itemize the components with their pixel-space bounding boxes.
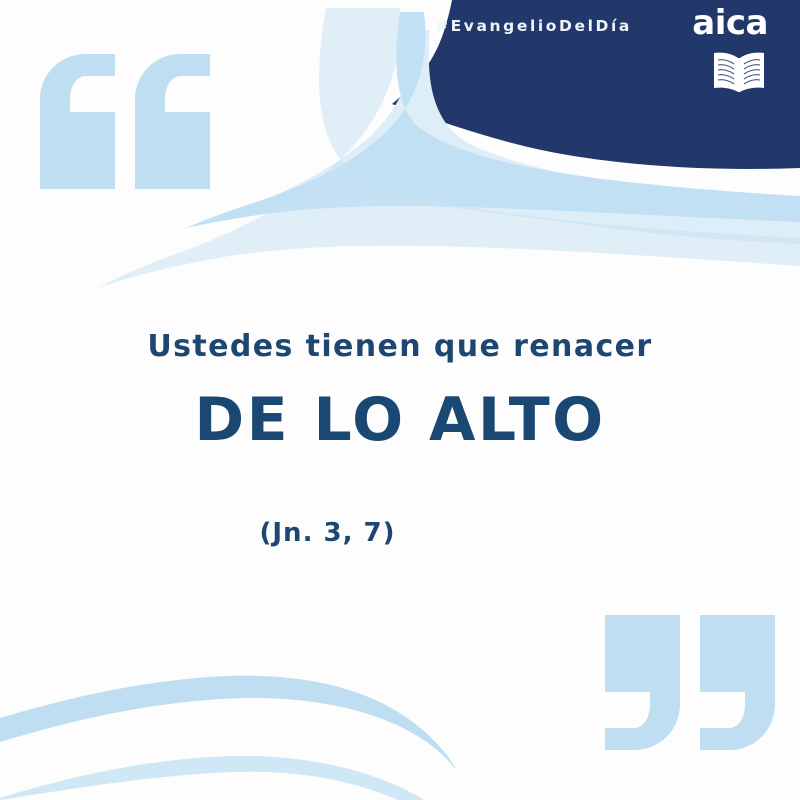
hashtag-label: #EvangelioDelDía [435, 17, 632, 35]
quote-headline: DE LO ALTO [0, 389, 800, 452]
quote-open-icon [40, 54, 210, 189]
quote-close-icon [605, 615, 775, 750]
wave-ribbon-bottom-upper [0, 676, 458, 772]
aica-logo: aica [692, 6, 768, 40]
quote-text-block: Ustedes tienen que renacer DE LO ALTO [0, 330, 800, 452]
quote-subtitle: Ustedes tienen que renacer [0, 330, 800, 363]
open-book-icon [711, 50, 767, 94]
quote-citation: (Jn. 3, 7) [0, 518, 800, 548]
gospel-quote-card: #EvangelioDelDía aica [0, 0, 800, 800]
wave-ribbon-bottom-lower [0, 756, 424, 800]
